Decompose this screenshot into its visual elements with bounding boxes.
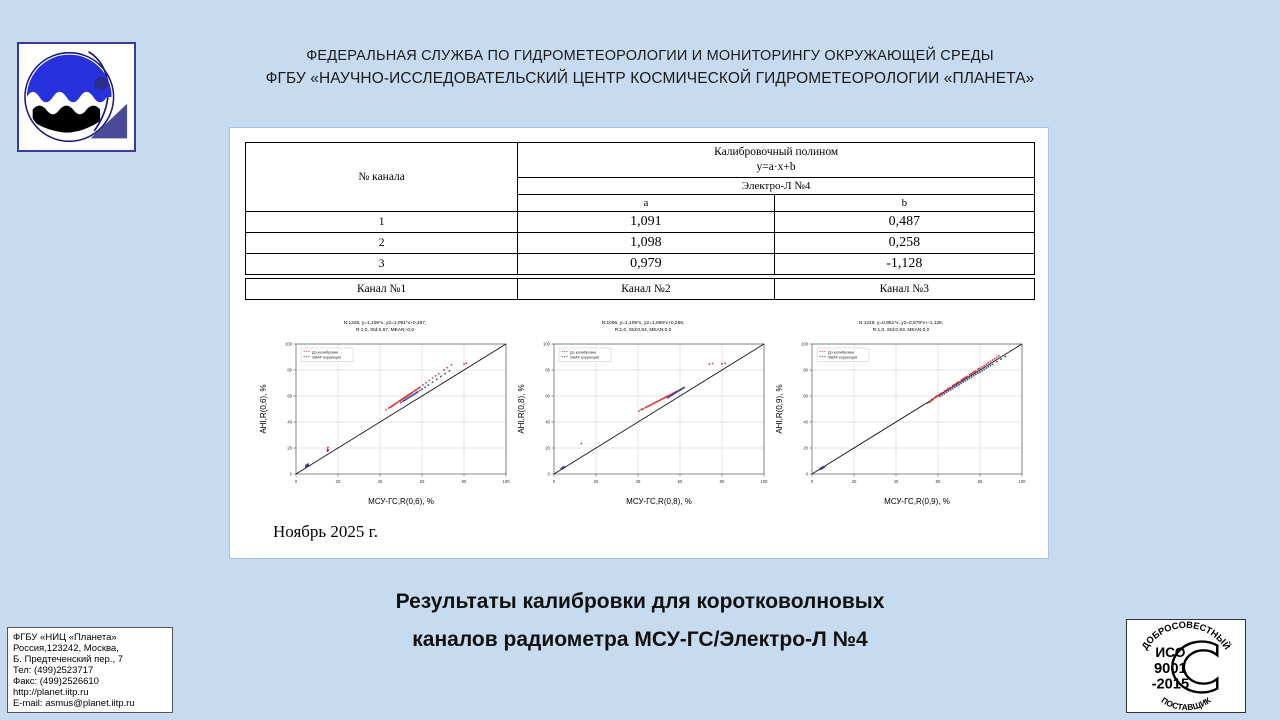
data-point (971, 376, 973, 378)
data-point (998, 355, 1000, 357)
data-point (652, 403, 654, 405)
chart-title-line-2: R:1,0, Std:0,67, MEAN:-0,0 (356, 327, 414, 333)
data-point (974, 370, 976, 372)
chart-title-line-2: R:1,0, Std:0,93, MEAN:0,0 (873, 327, 930, 333)
data-point (936, 395, 938, 397)
data-point (432, 377, 434, 379)
row-channel: 2 (246, 233, 518, 254)
planeta-logo-icon (19, 44, 134, 150)
data-point (391, 405, 393, 407)
slide-caption: Результаты калибровки для коротковолновы… (180, 583, 1100, 659)
data-point (436, 378, 438, 380)
data-point (927, 402, 929, 404)
y-tick-label: 60 (287, 394, 292, 399)
data-point (992, 363, 994, 365)
data-point (824, 466, 826, 468)
y-tick-label: 20 (545, 446, 550, 451)
data-point (983, 365, 985, 367)
data-point (580, 443, 582, 445)
data-point (678, 390, 680, 392)
data-point (981, 370, 983, 372)
data-point (950, 389, 952, 391)
row-coeff-b: 0,487 (774, 212, 1034, 233)
row-coeff-a: 1,091 (518, 212, 774, 233)
data-point (996, 356, 998, 358)
data-point (962, 381, 964, 383)
y-axis-label: AHI,R(0,8), % (517, 384, 526, 433)
data-point (660, 399, 662, 401)
contact-card: ФГБУ «НИЦ «Планета» Россия,123242, Москв… (7, 627, 173, 713)
data-point (414, 393, 416, 395)
y-tick-label: 60 (803, 394, 808, 399)
data-point (419, 386, 421, 388)
data-point (306, 465, 308, 467)
data-point (954, 386, 956, 388)
data-point (939, 395, 941, 397)
panel-date: Ноябрь 2025 г. (273, 522, 378, 542)
data-point (428, 379, 430, 381)
header-titles: ФЕДЕРАЛЬНАЯ СЛУЖБА ПО ГИДРОМЕТЕОРОЛОГИИ … (150, 46, 1150, 90)
data-point (992, 359, 994, 361)
data-point (983, 368, 985, 370)
data-point (435, 375, 437, 377)
data-point (440, 376, 442, 378)
y-tick-label: 20 (803, 446, 808, 451)
data-point (463, 363, 465, 365)
row-coeff-b: -1,128 (774, 254, 1034, 275)
institute-title: ФГБУ «НАУЧНО-ИССЛЕДОВАТЕЛЬСКИЙ ЦЕНТР КОС… (150, 67, 1150, 90)
data-point (327, 450, 329, 452)
row-coeff-a: 0,979 (518, 254, 774, 275)
data-point (425, 382, 427, 384)
data-point (953, 384, 955, 386)
data-point (985, 367, 987, 369)
svg-text:ДОБРОСОВЕСТНЫЙ: ДОБРОСОВЕСТНЫЙ (1140, 620, 1234, 652)
iso-arc-top: ДОБРОСОВЕСТНЫЙ (1140, 620, 1234, 652)
chart-title-line-1: N:1248, y=0,961*x, y2=0,979*x+-1,128, (859, 320, 943, 326)
calibration-table: № канала Калибровочный полином y=a·x+b Э… (245, 142, 1035, 275)
x-tick-label: 100 (761, 479, 769, 484)
data-point (424, 386, 426, 388)
data-point (929, 401, 931, 403)
data-point (940, 392, 942, 394)
data-point (403, 397, 405, 399)
table-header-row: № канала Калибровочный полином y=a·x+b (246, 143, 1035, 178)
data-point (654, 402, 656, 404)
caption-line-2: каналов радиометра МСУ-ГС/Электро-Л №4 (180, 621, 1100, 659)
data-point (645, 406, 647, 408)
data-point (396, 402, 398, 404)
data-point (966, 379, 968, 381)
data-point (985, 363, 987, 365)
y-tick-label: 40 (287, 420, 292, 425)
row-channel: 1 (246, 212, 518, 233)
data-point (448, 370, 450, 372)
data-point (979, 371, 981, 373)
channel-label-row: Канал №1 Канал №2 Канал №3 (245, 278, 1035, 300)
data-point (987, 366, 989, 368)
chart-title-line-2: R:1,0, Std:0,94, MEAN:0,0 (615, 327, 672, 333)
row-coeff-b: 0,258 (774, 233, 1034, 254)
x-tick-label: 60 (678, 479, 683, 484)
data-point (1000, 358, 1002, 360)
data-point (412, 394, 414, 396)
data-point (972, 372, 974, 374)
x-axis-label: МСУ-ГС,R(0,9), % (884, 497, 950, 506)
data-point (960, 382, 962, 384)
data-point (712, 363, 714, 365)
data-point (443, 369, 445, 371)
data-point (961, 379, 963, 381)
x-tick-label: 20 (594, 479, 599, 484)
data-point (945, 391, 947, 393)
data-point (975, 373, 977, 375)
header-polynomial: Калибровочный полином y=a·x+b (518, 143, 1035, 178)
data-point (641, 408, 643, 410)
data-point (327, 446, 329, 448)
planeta-logo (17, 42, 136, 152)
y-tick-label: 80 (545, 368, 550, 373)
row-channel: 3 (246, 254, 518, 275)
x-tick-label: 20 (852, 479, 857, 484)
data-point (419, 390, 421, 392)
data-point (676, 391, 678, 393)
chart-title-line-1: N:1326, y=1,106*x, y2=1,091*x+0,487, (344, 320, 427, 326)
data-point (987, 362, 989, 364)
data-point (401, 398, 403, 400)
x-tick-label: 80 (720, 479, 725, 484)
x-tick-label: 100 (503, 479, 511, 484)
satellite-label: Электро-Л №4 (518, 178, 1035, 195)
data-point (562, 467, 564, 469)
x-axis-label: МСУ-ГС,R(0,6), % (368, 497, 434, 506)
data-point (432, 381, 434, 383)
data-point (955, 383, 957, 385)
y-tick-label: 100 (801, 342, 809, 347)
data-point (990, 360, 992, 362)
x-tick-label: 20 (336, 479, 341, 484)
data-point (981, 366, 983, 368)
scatter-chart-channel-2: 020406080100020406080100МСУ-ГС,R(0,8), %… (512, 314, 774, 510)
data-point (965, 376, 967, 378)
data-point (990, 365, 992, 367)
data-point (394, 403, 396, 405)
contact-line: Россия,123242, Москва, (13, 643, 167, 654)
data-point (680, 388, 682, 390)
data-point (947, 388, 949, 390)
data-point (403, 400, 405, 402)
y-axis-label: AHI,R(0,6), % (259, 384, 268, 433)
data-point (943, 393, 945, 395)
y-tick-label: 40 (545, 420, 550, 425)
chart-canvas-channel-3: 020406080100020406080100МСУ-ГС,R(0,9), %… (770, 314, 1032, 510)
data-point (656, 401, 658, 403)
x-axis-label: МСУ-ГС,R(0,8), % (626, 497, 692, 506)
x-tick-label: 40 (378, 479, 383, 484)
data-point (405, 396, 407, 398)
data-point (963, 377, 965, 379)
data-point (450, 364, 452, 366)
data-point (405, 398, 407, 400)
data-point (949, 387, 951, 389)
chart-canvas-channel-2: 020406080100020406080100МСУ-ГС,R(0,8), %… (512, 314, 774, 510)
data-point (956, 385, 958, 387)
scatter-chart-channel-1: 020406080100020406080100МСУ-ГС,R(0,6), %… (254, 314, 516, 510)
data-point (638, 410, 640, 412)
data-point (957, 381, 959, 383)
data-point (422, 384, 424, 386)
data-point (465, 362, 467, 364)
y-tick-label: 100 (285, 342, 293, 347)
contact-line: Факс: (499)2526610 (13, 676, 167, 687)
row-coeff-a: 1,098 (518, 233, 774, 254)
y-tick-label: 100 (543, 342, 551, 347)
chart-canvas-channel-1: 020406080100020406080100МСУ-ГС,R(0,6), %… (254, 314, 516, 510)
data-point (670, 395, 672, 397)
data-point (668, 396, 670, 398)
legend-label: SBAF коррекция (828, 356, 857, 360)
data-point (708, 363, 710, 365)
iso-line-2: 9001 (1154, 661, 1187, 677)
table-row: 2 1,098 0,258 (246, 233, 1035, 254)
contact-line: ФГБУ «НИЦ «Планета» (13, 632, 167, 643)
data-point (724, 362, 726, 364)
legend-label: До калибровки (570, 350, 596, 354)
data-point (973, 375, 975, 377)
data-point (407, 394, 409, 396)
data-point (964, 380, 966, 382)
y-tick-label: 80 (287, 368, 292, 373)
data-point (994, 358, 996, 360)
data-point (399, 400, 401, 402)
data-point (407, 397, 409, 399)
data-point (1004, 356, 1006, 358)
data-point (444, 373, 446, 375)
data-point (674, 392, 676, 394)
x-tick-label: 40 (894, 479, 899, 484)
data-point (400, 402, 402, 404)
data-point (410, 393, 412, 395)
iso-badge-icon: ДОБРОСОВЕСТНЫЙ ПОСТАВЩИК ИСО 9001 -2015 (1127, 620, 1245, 712)
data-point (970, 373, 972, 375)
data-point (446, 367, 448, 369)
data-point (977, 372, 979, 374)
contact-line: Тел: (499)2523717 (13, 665, 167, 676)
iso-line-3: -2015 (1152, 677, 1190, 693)
data-point (658, 400, 660, 402)
contact-line: Б. Предтеченский пер., 7 (13, 654, 167, 665)
data-point (969, 377, 971, 379)
x-tick-label: 80 (462, 479, 467, 484)
data-point (941, 394, 943, 396)
data-point (421, 388, 423, 390)
data-point (938, 394, 940, 396)
data-point (996, 361, 998, 363)
data-point (438, 373, 440, 375)
data-point (410, 396, 412, 398)
header-channel: № канала (246, 143, 518, 212)
x-tick-label: 40 (636, 479, 641, 484)
data-point (932, 399, 934, 401)
data-point (958, 384, 960, 386)
x-tick-label: 80 (978, 479, 983, 484)
data-point (948, 390, 950, 392)
x-tick-label: 60 (420, 479, 425, 484)
data-point (672, 394, 674, 396)
y-tick-label: 20 (287, 446, 292, 451)
data-point (721, 363, 723, 365)
data-point (952, 388, 954, 390)
contact-website-link[interactable]: http://planet.iitp.ru (13, 687, 167, 698)
iso-line-1: ИСО (1155, 645, 1185, 660)
x-tick-label: 100 (1019, 479, 1027, 484)
y-tick-label: 80 (803, 368, 808, 373)
data-point (664, 396, 666, 398)
channel-label-3: Канал №3 (774, 279, 1034, 300)
data-point (427, 384, 429, 386)
polynomial-label-line2: y=a·x+b (521, 160, 1031, 175)
channel-label-2: Канал №2 (518, 279, 774, 300)
data-point (416, 392, 418, 394)
contact-email-link[interactable]: E-mail: asmus@planet.iitp.ru (13, 698, 167, 709)
data-point (385, 409, 387, 411)
x-tick-label: 60 (936, 479, 941, 484)
legend-label: SBAF коррекция (570, 356, 599, 360)
data-point (650, 404, 652, 406)
y-tick-label: 60 (545, 394, 550, 399)
legend-label: До калибровки (828, 350, 854, 354)
data-point (944, 390, 946, 392)
iso-certification-badge: ДОБРОСОВЕСТНЫЙ ПОСТАВЩИК ИСО 9001 -2015 (1126, 619, 1246, 713)
header-coeff-b: b (774, 195, 1034, 212)
content-panel: № канала Калибровочный полином y=a·x+b Э… (229, 127, 1049, 559)
table-row: 3 0,979 -1,128 (246, 254, 1035, 275)
legend-label: До калибровки (312, 350, 338, 354)
y-tick-label: 40 (803, 420, 808, 425)
data-point (934, 397, 936, 399)
scatter-chart-channel-3: 020406080100020406080100МСУ-ГС,R(0,9), %… (770, 314, 1032, 510)
data-point (648, 405, 650, 407)
polynomial-label-line1: Калибровочный полином (521, 145, 1031, 160)
data-point (662, 398, 664, 400)
data-point (415, 389, 417, 391)
caption-line-1: Результаты калибровки для коротковолновы… (180, 583, 1100, 621)
data-point (978, 368, 980, 370)
data-point (682, 387, 684, 389)
agency-title: ФЕДЕРАЛЬНАЯ СЛУЖБА ПО ГИДРОМЕТЕОРОЛОГИИ … (150, 46, 1150, 67)
svg-text:ПОСТАВЩИК: ПОСТАВЩИК (1159, 695, 1213, 712)
table-row: 1 1,091 0,487 (246, 212, 1035, 233)
legend-label: SBAF коррекция (312, 356, 341, 360)
header-coeff-a: a (518, 195, 774, 212)
y-axis-label: AHI,R(0,9), % (775, 384, 784, 433)
chart-title-line-1: N:1096, y=1,109*x, y2=1,098*x+0,258, (602, 320, 685, 326)
iso-arc-bottom: ПОСТАВЩИК (1159, 695, 1213, 712)
channel-label-1: Канал №1 (246, 279, 518, 300)
